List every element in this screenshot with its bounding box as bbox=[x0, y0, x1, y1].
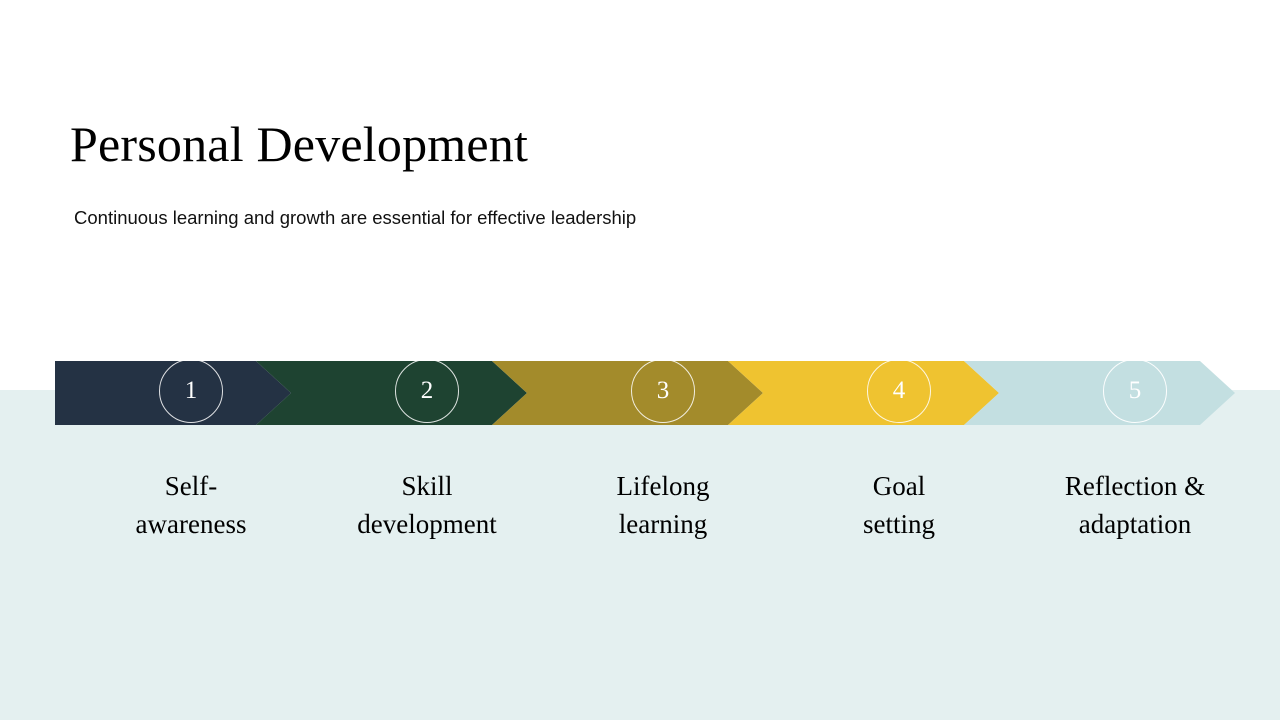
chevron-segment-5[interactable] bbox=[964, 361, 1235, 425]
step-label-5-line1: Reflection & bbox=[1065, 471, 1205, 501]
step-number-5: 5 bbox=[1129, 378, 1142, 403]
chevron-segment-2[interactable] bbox=[256, 361, 527, 425]
step-label-1-line2: awareness bbox=[76, 505, 306, 543]
step-number-2: 2 bbox=[421, 378, 434, 403]
step-label-3-line2: learning bbox=[548, 505, 778, 543]
page-title: Personal Development bbox=[70, 113, 528, 175]
step-circle-4[interactable]: 4 bbox=[867, 359, 931, 423]
step-label-2: Skill development bbox=[312, 467, 542, 543]
step-label-1: Self- awareness bbox=[76, 467, 306, 543]
step-circle-1[interactable]: 1 bbox=[159, 359, 223, 423]
step-label-4-line2: setting bbox=[784, 505, 1014, 543]
step-label-4: Goal setting bbox=[784, 467, 1014, 543]
step-circle-3[interactable]: 3 bbox=[631, 359, 695, 423]
step-circle-2[interactable]: 2 bbox=[395, 359, 459, 423]
step-number-3: 3 bbox=[657, 378, 670, 403]
step-label-2-line1: Skill bbox=[401, 471, 452, 501]
step-label-5-line2: adaptation bbox=[1020, 505, 1250, 543]
step-label-4-line1: Goal bbox=[873, 471, 925, 501]
step-label-5: Reflection & adaptation bbox=[1020, 467, 1250, 543]
step-number-1: 1 bbox=[185, 378, 198, 403]
step-label-3: Lifelong learning bbox=[548, 467, 778, 543]
lower-background-band bbox=[0, 390, 1280, 720]
step-number-4: 4 bbox=[893, 378, 906, 403]
slide-canvas: Personal Development Continuous learning… bbox=[0, 0, 1280, 720]
chevron-segment-3[interactable] bbox=[492, 361, 763, 425]
step-label-3-line1: Lifelong bbox=[617, 471, 710, 501]
chevron-segment-4[interactable] bbox=[728, 361, 999, 425]
step-circle-5[interactable]: 5 bbox=[1103, 359, 1167, 423]
step-label-2-line2: development bbox=[312, 505, 542, 543]
page-subtitle: Continuous learning and growth are essen… bbox=[74, 205, 636, 231]
step-label-1-line1: Self- bbox=[165, 471, 217, 501]
